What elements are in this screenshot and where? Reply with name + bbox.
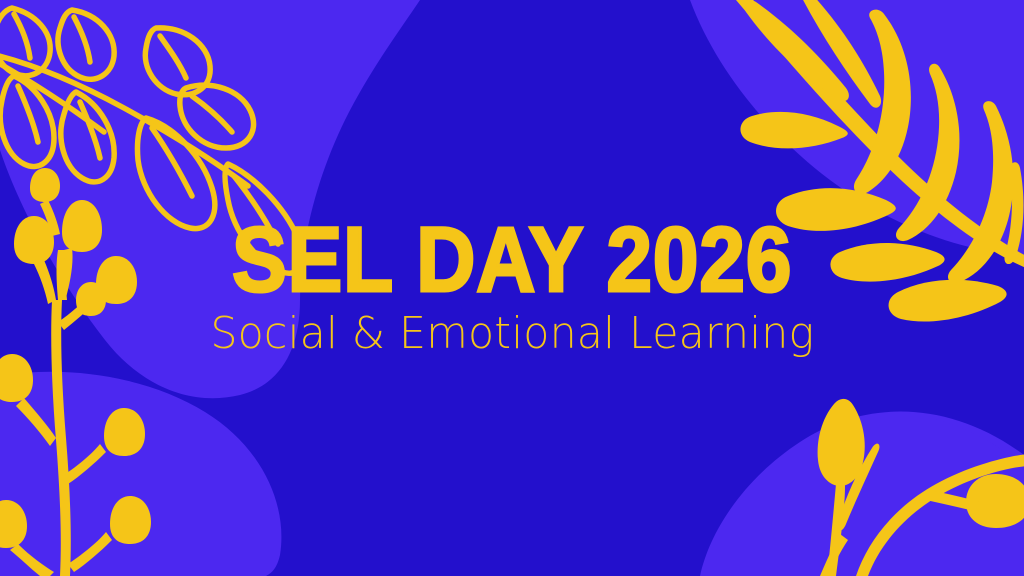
page-subtitle: Social & Emotional Learning xyxy=(210,311,814,357)
text-block: SEL DAY 2026 Social & Emotional Learning xyxy=(0,0,1024,576)
poster-canvas: SEL DAY 2026 Social & Emotional Learning xyxy=(0,0,1024,576)
page-title: SEL DAY 2026 xyxy=(232,217,792,303)
